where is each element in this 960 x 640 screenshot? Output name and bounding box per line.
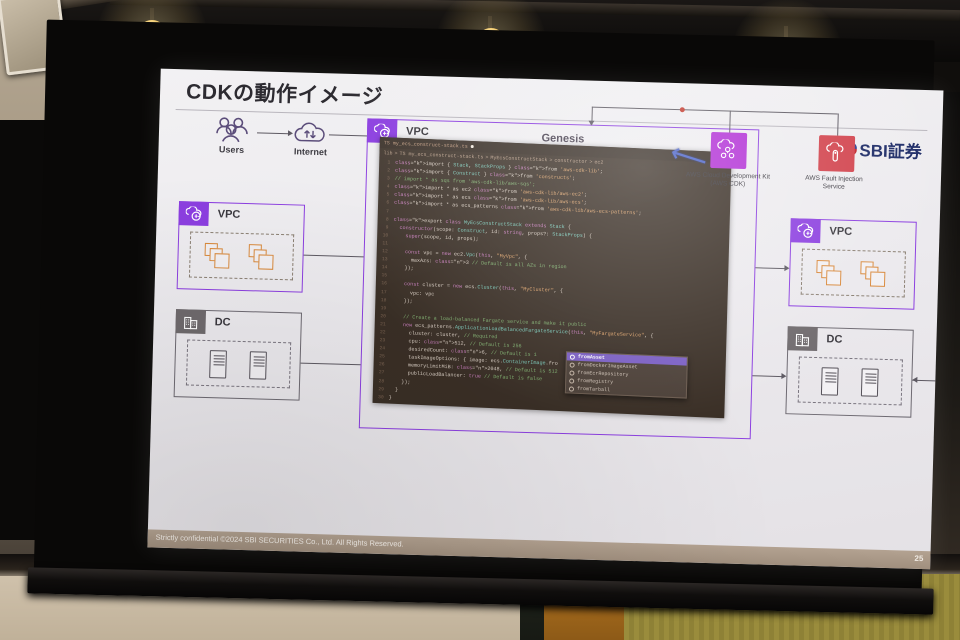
aws-fis-icon (824, 142, 849, 165)
vpc-right-subnet-group (801, 249, 906, 298)
users-label: Users (208, 144, 254, 155)
connector-genesis-vpc-right (755, 267, 785, 269)
breadcrumb-item-2[interactable]: MyEcsConstructStack (490, 155, 547, 163)
chevron-right-icon-3: > (589, 159, 592, 165)
method-icon (570, 362, 575, 367)
dc-right-group (798, 357, 903, 406)
server-icon (861, 368, 879, 396)
vpc-genesis-label: VPC (406, 125, 429, 138)
container-stack-icon (248, 244, 275, 271)
datacenter-icon (795, 331, 809, 346)
container-stack-icon (860, 261, 887, 288)
unsaved-indicator-icon (471, 145, 474, 148)
connector-users-internet (257, 132, 289, 134)
confidentiality-notice: Strictly confidential ©2024 SBI SECURITI… (156, 533, 404, 549)
connector-vpc-left-genesis (304, 255, 364, 258)
architecture-diagram: Users Internet (148, 113, 942, 551)
dc-left-group (186, 339, 291, 388)
chevron-right-icon-2: > (549, 157, 552, 163)
container-stack-icon (816, 260, 843, 287)
arrow-to-genesis (588, 121, 594, 126)
vpc-icon (797, 223, 814, 238)
datacenter-icon (184, 314, 198, 329)
chevron-right-icon-0: > (394, 151, 397, 157)
method-icon (570, 354, 575, 359)
projection-screen: CDKの動作イメージ SBI SBI証券 Users (33, 20, 934, 611)
breadcrumb-item-4[interactable]: ec2 (594, 159, 603, 165)
vpc-left-box: VPC (177, 201, 305, 292)
connector-fis-drop (837, 114, 839, 136)
users-icon (215, 116, 250, 143)
vpc-right-box: VPC (788, 218, 916, 309)
method-icon (569, 378, 574, 383)
dc-left-label: DC (215, 316, 231, 328)
page-title: CDKの動作イメージ (186, 75, 384, 110)
editor-tab-name: my_ecs_construct-stack.ts (393, 140, 468, 149)
chevron-right-icon-1: > (485, 155, 488, 161)
autocomplete-item-label: fromAsset (578, 354, 605, 361)
pointer-dot (680, 107, 685, 112)
server-icon (209, 350, 227, 378)
presentation-slide: CDKの動作イメージ SBI SBI証券 Users (147, 69, 943, 570)
dc-left-box: DC (174, 309, 302, 400)
line-number: 32 (373, 410, 384, 418)
vpc-icon (185, 206, 202, 221)
dc-right-box: DC (785, 326, 913, 417)
internet-icon (293, 120, 328, 145)
dc-right-label: DC (826, 333, 842, 345)
server-icon (821, 367, 839, 395)
method-icon (569, 370, 574, 375)
line-number: 31 (373, 402, 384, 411)
aws-fis-label-line1: AWS Fault Injection (805, 175, 863, 184)
aws-fis-label-line2: Service (823, 183, 845, 191)
slide-number: 25 (914, 554, 923, 563)
connector-internet-genesis (329, 134, 369, 136)
aws-cdk-label-line2: (AWS CDK) (710, 180, 745, 188)
autocomplete-item-label: fromTarball (577, 386, 610, 393)
connector-dc-left-genesis (301, 363, 361, 366)
aws-cdk-icon (716, 139, 741, 162)
dc-left-header (175, 309, 206, 334)
aws-cdk-label: AWS Cloud Development Kit (AWS CDK) (666, 171, 790, 191)
breadcrumb-item-0[interactable]: lib (383, 150, 392, 156)
connector-genesis-dc-right (752, 375, 782, 377)
autocomplete-popup[interactable]: fromAssetfromDockerImageAssetfromEcrRepo… (565, 351, 688, 398)
vpc-right-header (790, 218, 821, 243)
arrow-genesis-dc-right (781, 373, 786, 379)
connector-services-horizontal (592, 107, 838, 115)
vpc-left-label: VPC (218, 208, 241, 221)
dc-right-header (787, 326, 818, 351)
aws-fis-label: AWS Fault Injection Service (786, 174, 882, 193)
aws-cdk-tile (710, 132, 747, 169)
vpc-right-label: VPC (829, 225, 852, 238)
internet-label: Internet (284, 146, 336, 157)
method-icon (569, 386, 574, 391)
server-icon (249, 351, 267, 379)
vpc-left-header (178, 201, 209, 226)
container-stack-icon (204, 243, 231, 270)
arrow-to-dc-right (912, 376, 917, 382)
breadcrumb-item-3[interactable]: constructor (554, 158, 587, 165)
vpc-left-subnet-group (189, 231, 294, 280)
aws-fis-tile (818, 135, 855, 172)
arrow-genesis-vpc-right (784, 265, 789, 271)
editor-tab-prefix: TS (384, 140, 390, 146)
